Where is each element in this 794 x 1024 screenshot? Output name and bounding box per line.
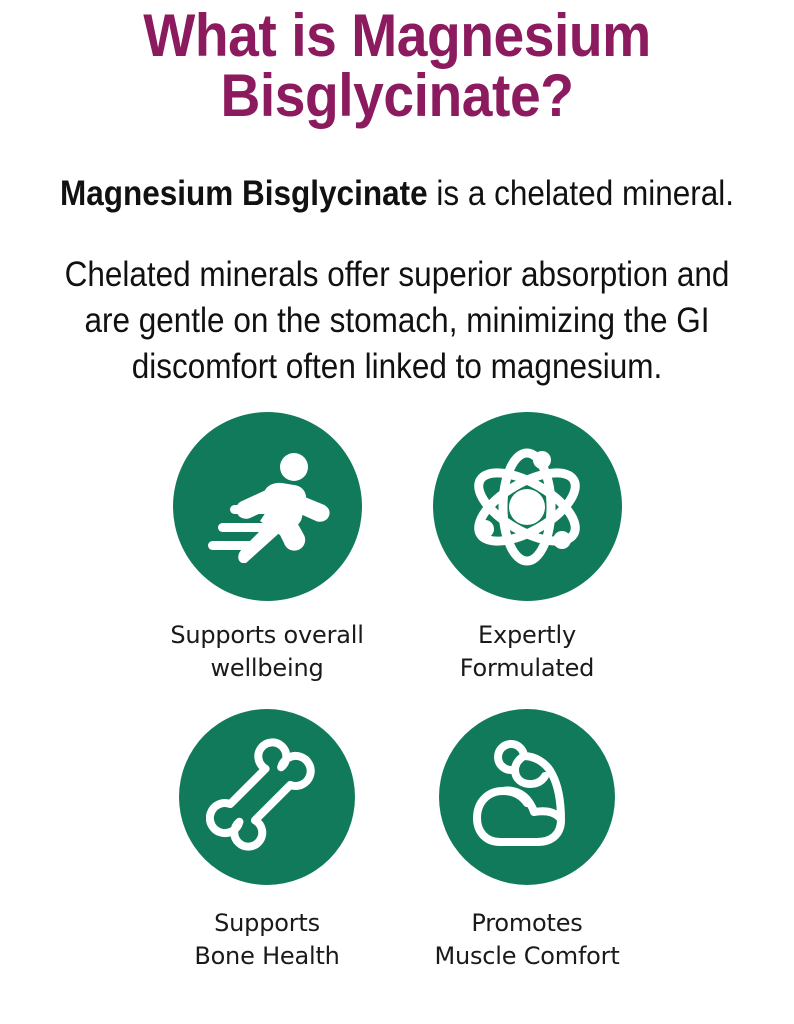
flexed-bicep-icon xyxy=(467,737,587,857)
benefit-icon-circle xyxy=(179,709,355,885)
lead-sentence-bold: Magnesium Bisglycinate xyxy=(60,174,428,213)
atom-icon xyxy=(463,443,591,571)
body-paragraph-line-1: Chelated minerals offer superior absorpt… xyxy=(40,252,755,298)
benefit-item-supports-overall-wellbeing: Supports overall wellbeing xyxy=(140,412,394,685)
page-title: What is Magnesium Bisglycinate? xyxy=(0,6,794,126)
lead-sentence-rest: is a chelated mineral. xyxy=(428,174,734,213)
benefits-row-2: Supports Bone Health xyxy=(0,709,794,973)
benefit-icon-circle xyxy=(433,412,622,601)
running-person-icon xyxy=(202,451,332,563)
benefit-icon-circle xyxy=(439,709,615,885)
benefit-item-expertly-formulated: Expertly Formulated xyxy=(400,412,654,685)
body-paragraph-line-2: are gentle on the stomach, minimizing th… xyxy=(40,298,755,344)
page-title-line-2: Bisglycinate? xyxy=(32,66,762,126)
benefit-label: Promotes Muscle Comfort xyxy=(434,907,619,973)
benefit-label: Supports overall wellbeing xyxy=(170,619,363,685)
benefit-label: Supports Bone Health xyxy=(194,907,339,973)
page-title-line-1: What is Magnesium xyxy=(32,6,762,66)
body-paragraph-line-3: discomfort often linked to magnesium. xyxy=(40,344,755,390)
magnesium-bisglycinate-infographic: What is Magnesium Bisglycinate? Magnesiu… xyxy=(0,0,794,1024)
benefits-grid: Supports overall wellbeing xyxy=(0,412,794,973)
lead-sentence: Magnesium Bisglycinate is a chelated min… xyxy=(40,172,755,216)
body-paragraph: Chelated minerals offer superior absorpt… xyxy=(40,252,755,390)
benefit-item-supports-bone-health: Supports Bone Health xyxy=(140,709,394,973)
bone-icon xyxy=(206,736,328,858)
benefit-label: Expertly Formulated xyxy=(460,619,594,685)
benefits-row-1: Supports overall wellbeing xyxy=(0,412,794,685)
benefit-icon-circle xyxy=(173,412,362,601)
benefit-item-promotes-muscle-comfort: Promotes Muscle Comfort xyxy=(400,709,654,973)
